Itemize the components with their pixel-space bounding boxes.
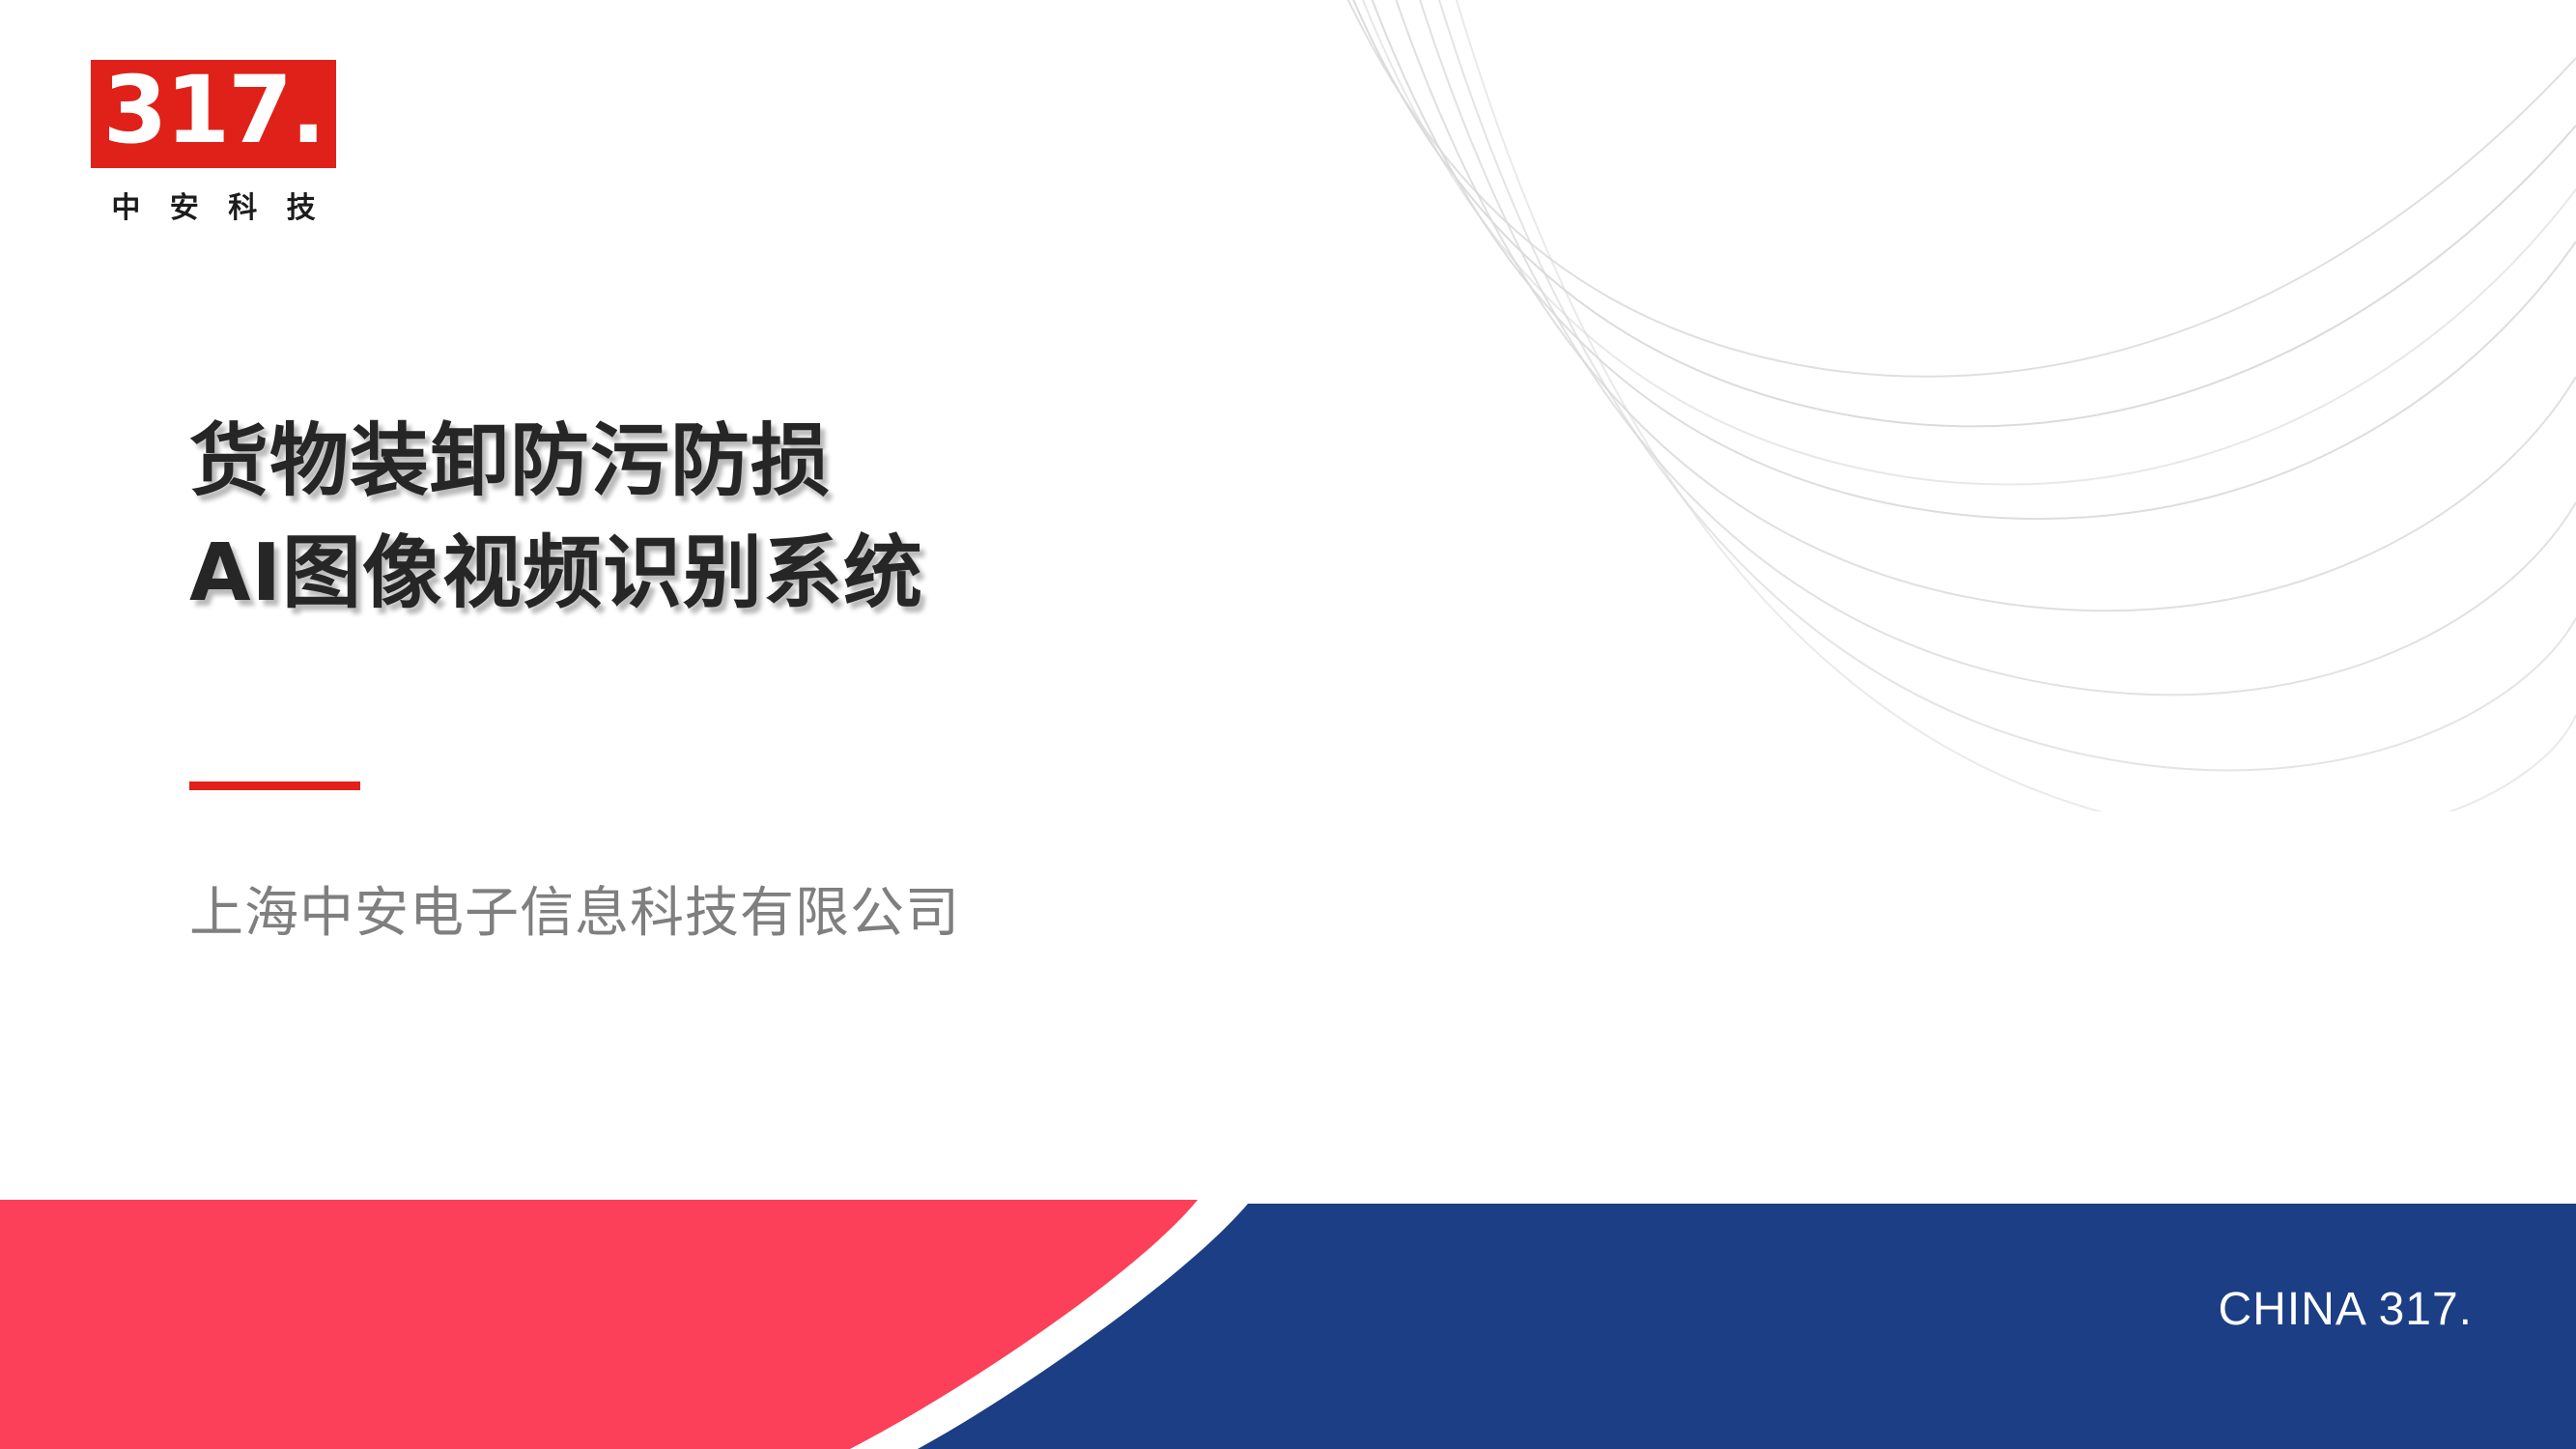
title-divider: [189, 781, 360, 790]
logo: 317. 中 安 科 技: [91, 60, 344, 226]
presentation-slide: 317. 中 安 科 技 货物装卸防污防损 AI图像视频识别系统 上海中安电子信…: [0, 0, 2576, 1449]
footer-band: CHINA 317.: [0, 1200, 2576, 1449]
footer-brand-label: CHINA 317.: [2219, 1283, 2473, 1336]
footer-shapes: [0, 1200, 2576, 1449]
decorative-curves: [1340, 0, 2576, 811]
page-title-line-2: AI图像视频识别系统: [189, 518, 923, 630]
page-title: 货物装卸防污防损 AI图像视频识别系统: [189, 406, 923, 631]
logo-mark: 317.: [91, 60, 336, 168]
logo-mark-text: 317.: [103, 64, 325, 156]
subtitle-company-name: 上海中安电子信息科技有限公司: [189, 869, 960, 948]
logo-company-short: 中 安 科 技: [91, 184, 336, 226]
page-title-line-1: 货物装卸防污防损: [189, 406, 923, 518]
